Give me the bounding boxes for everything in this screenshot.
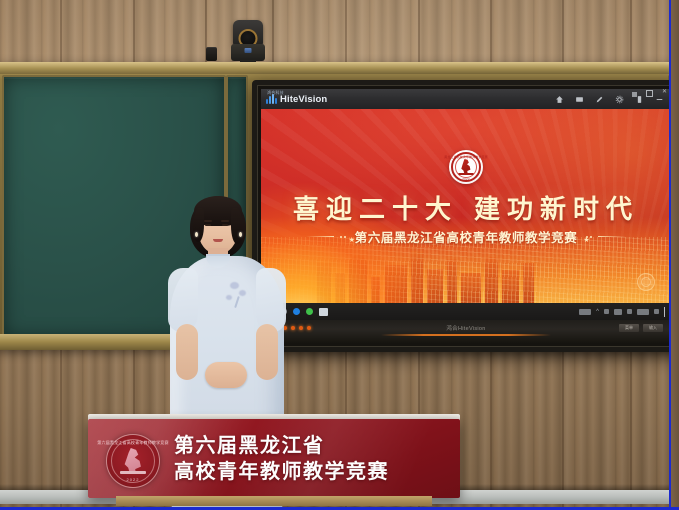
dress-floral-motif [239,290,246,296]
podium-banner: 第六届黑龙江省高校青年教师教学竞赛 2022 第六届黑龙江省 高校青年教师教学竞… [88,414,460,506]
chevron-up-icon[interactable]: ^ [596,309,599,315]
ptz-camera [231,20,265,68]
subtitle-dots-right: ★ [583,236,592,238]
maximize-button[interactable] [646,90,653,97]
keyboard-icon[interactable] [637,309,649,315]
podium-emblem: 第六届黑龙江省高校青年教师教学竞赛 2022 [106,434,160,488]
presenter-earring-left [195,232,198,237]
viewport-right-border [669,0,671,510]
presenter-mouth [213,239,223,242]
minimize-button[interactable] [632,90,637,95]
slide-corner-seal-icon [637,273,655,291]
message-icon[interactable] [654,309,659,314]
subtitle-rule-right [598,236,626,238]
presenter-brow-right [221,220,229,222]
podium-line-2: 高校青年教师教学竞赛 [174,458,389,484]
dress-floral-motif [230,282,239,289]
settings-icon[interactable] [615,95,624,104]
pen-icon[interactable] [595,95,604,104]
presenter-hair-left [193,208,204,242]
presenter-earring-right [239,232,242,237]
media-icon[interactable] [306,308,313,315]
interactive-flat-panel[interactable]: HiteVision 鸿合科技 ✕ [252,80,679,352]
monitor-icon[interactable] [604,309,609,314]
volume-icon[interactable] [614,309,622,315]
bezel-buttons[interactable]: 菜单 输入 [619,324,663,332]
window-controls[interactable]: ✕ [632,90,667,97]
brand-sub-name: 鸿合科技 [267,90,284,96]
bezel-brand-text: 鸿合HiteVision [446,324,485,332]
slide-subtitle: 第六届黑龙江省高校青年教师教学竞赛 [355,227,578,246]
language-icon[interactable] [627,309,632,314]
camera-led [245,48,252,53]
presenter-hands [205,362,247,388]
podium-text-block: 第六届黑龙江省 高校青年教师教学竞赛 [174,432,389,484]
home-icon[interactable] [555,95,564,104]
competition-emblem: 黑龙江省高校青年教师教学竞赛 2022 [449,150,483,184]
panel-lower-bezel: 鸿合HiteVision 菜单 输入 [261,320,671,343]
windows-taskbar[interactable]: ^ [261,303,671,320]
panel-screen[interactable]: HiteVision 鸿合科技 ✕ [261,89,671,303]
network-icon[interactable] [579,309,591,315]
explorer-icon[interactable] [319,308,328,316]
wall-socket [206,47,217,61]
podium-emblem-arc-text: 第六届黑龙江省高校青年教师教学竞赛 [97,440,168,446]
brand-name: HiteVision [280,94,327,105]
taskbar-cursor [664,307,665,317]
presenter-sleeve-right [256,268,286,332]
bezel-input-button[interactable]: 输入 [643,324,663,332]
slide-subtitle-row: ★ 第六届黑龙江省高校青年教师教学竞赛 ★ [261,227,671,246]
podium-emblem-year: 2022 [127,477,140,482]
slide-main-title: 喜迎二十大 建功新时代 [261,189,671,226]
browser-icon[interactable] [293,308,300,315]
panel-app-bar: HiteVision 鸿合科技 ✕ [261,89,671,109]
emblem-arc-text: 黑龙江省高校青年教师教学竞赛 [444,155,487,159]
bezel-accent-line [381,334,551,336]
presenter-arm-right [256,324,278,380]
right-wall-edge [671,0,679,510]
podium-base-trim [116,496,432,506]
presenter-brow-left [204,220,212,222]
window-icon[interactable] [575,95,584,104]
dress-floral-motif [226,295,232,300]
presentation-slide[interactable]: 黑龙江省高校青年教师教学竞赛 2022 喜迎二十大 建功新时代 ★ 第六届黑龙江… [261,109,671,303]
blackboard-top-rail [0,62,679,74]
bezel-menu-button[interactable]: 菜单 [619,324,639,332]
subtitle-dots-left: ★ [340,236,349,238]
classroom-scene: HiteVision 鸿合科技 ✕ [0,0,679,510]
subtitle-rule-left [306,236,334,238]
podium-line-1: 第六届黑龙江省 [174,432,389,458]
system-tray[interactable]: ^ [579,307,665,317]
presenter-arm-left [176,324,198,380]
presenter-sleeve-left [168,268,198,332]
close-button[interactable]: ✕ [662,90,667,95]
emblem-year: 2022 [462,177,469,181]
